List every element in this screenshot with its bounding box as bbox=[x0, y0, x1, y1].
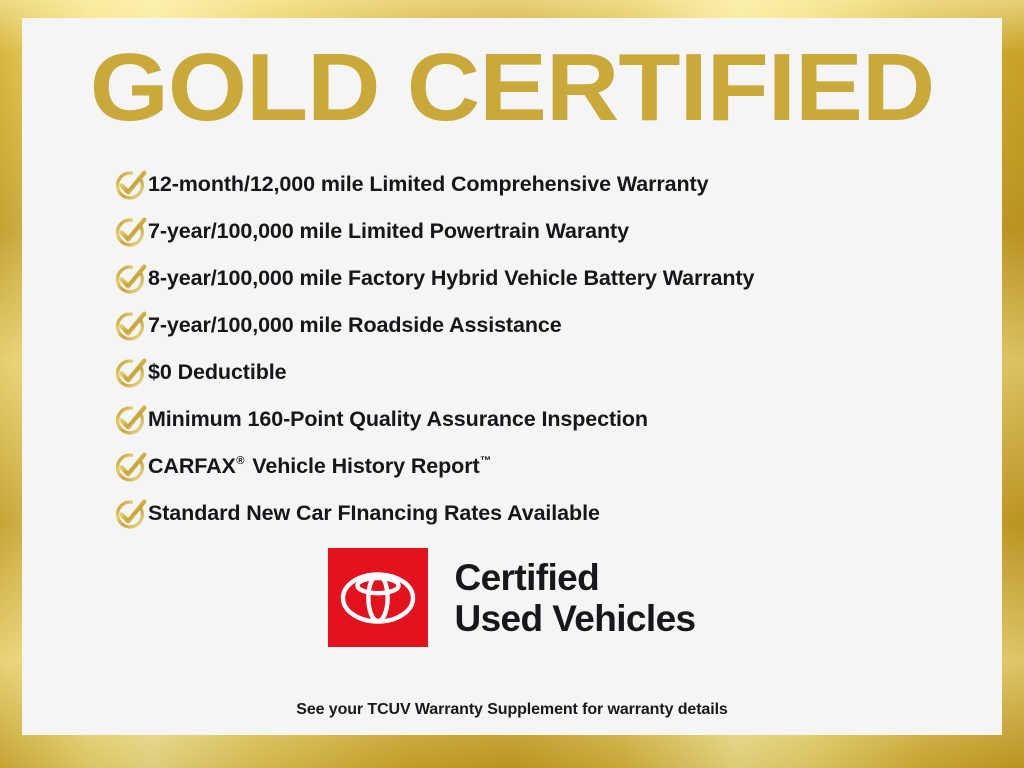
warranty-footnote: See your TCUV Warranty Supplement for wa… bbox=[22, 701, 1002, 719]
gold-check-circle-icon bbox=[94, 211, 148, 251]
list-item-label: Minimum 160-Point Quality Assurance Insp… bbox=[148, 407, 648, 431]
list-item-label: Standard New Car FInancing Rates Availab… bbox=[148, 501, 600, 525]
carfax-brand: CARFAX bbox=[148, 454, 236, 478]
feature-list: 12-month/12,000 mile Limited Comprehensi… bbox=[94, 160, 982, 536]
gold-certified-badge: GOLD CERTIFIED bbox=[0, 0, 1024, 768]
list-item: $0 Deductible bbox=[94, 348, 982, 395]
list-item: 8-year/100,000 mile Factory Hybrid Vehic… bbox=[94, 254, 982, 301]
list-item-label: 7-year/100,000 mile Limited Powertrain W… bbox=[148, 219, 629, 243]
badge-panel: GOLD CERTIFIED bbox=[22, 18, 1002, 735]
list-item-label: 7-year/100,000 mile Roadside Assistance bbox=[148, 313, 562, 337]
trademark-mark: ™ bbox=[480, 455, 494, 467]
gold-check-circle-icon bbox=[94, 399, 148, 439]
list-item-label: 12-month/12,000 mile Limited Comprehensi… bbox=[148, 172, 708, 196]
list-item: Minimum 160-Point Quality Assurance Insp… bbox=[94, 395, 982, 442]
gold-check-circle-icon bbox=[94, 493, 148, 533]
list-item-label: CARFAX® Vehicle History Report™ bbox=[148, 454, 493, 478]
gold-check-circle-icon bbox=[94, 352, 148, 392]
list-item: 7-year/100,000 mile Limited Powertrain W… bbox=[94, 207, 982, 254]
gold-check-circle-icon bbox=[94, 258, 148, 298]
list-item: CARFAX® Vehicle History Report™ bbox=[94, 442, 982, 489]
lockup-line-2: Used Vehicles bbox=[454, 598, 695, 639]
list-item: 7-year/100,000 mile Roadside Assistance bbox=[94, 301, 982, 348]
page-title: GOLD CERTIFIED bbox=[22, 40, 1002, 136]
gold-check-circle-icon bbox=[94, 446, 148, 486]
lockup-wordmark: Certified Used Vehicles bbox=[454, 557, 695, 639]
toyota-emblem-icon bbox=[328, 548, 428, 647]
list-item-label: $0 Deductible bbox=[148, 360, 287, 384]
registered-mark: ® bbox=[236, 455, 247, 467]
lockup-line-1: Certified bbox=[454, 557, 695, 598]
toyota-certified-used-vehicles-lockup: Certified Used Vehicles bbox=[22, 548, 1002, 647]
list-item: Standard New Car FInancing Rates Availab… bbox=[94, 489, 982, 536]
list-item-label: 8-year/100,000 mile Factory Hybrid Vehic… bbox=[148, 266, 754, 290]
gold-check-circle-icon bbox=[94, 164, 148, 204]
gold-check-circle-icon bbox=[94, 305, 148, 345]
list-item: 12-month/12,000 mile Limited Comprehensi… bbox=[94, 160, 982, 207]
carfax-descriptor: Vehicle History Report bbox=[246, 454, 479, 478]
